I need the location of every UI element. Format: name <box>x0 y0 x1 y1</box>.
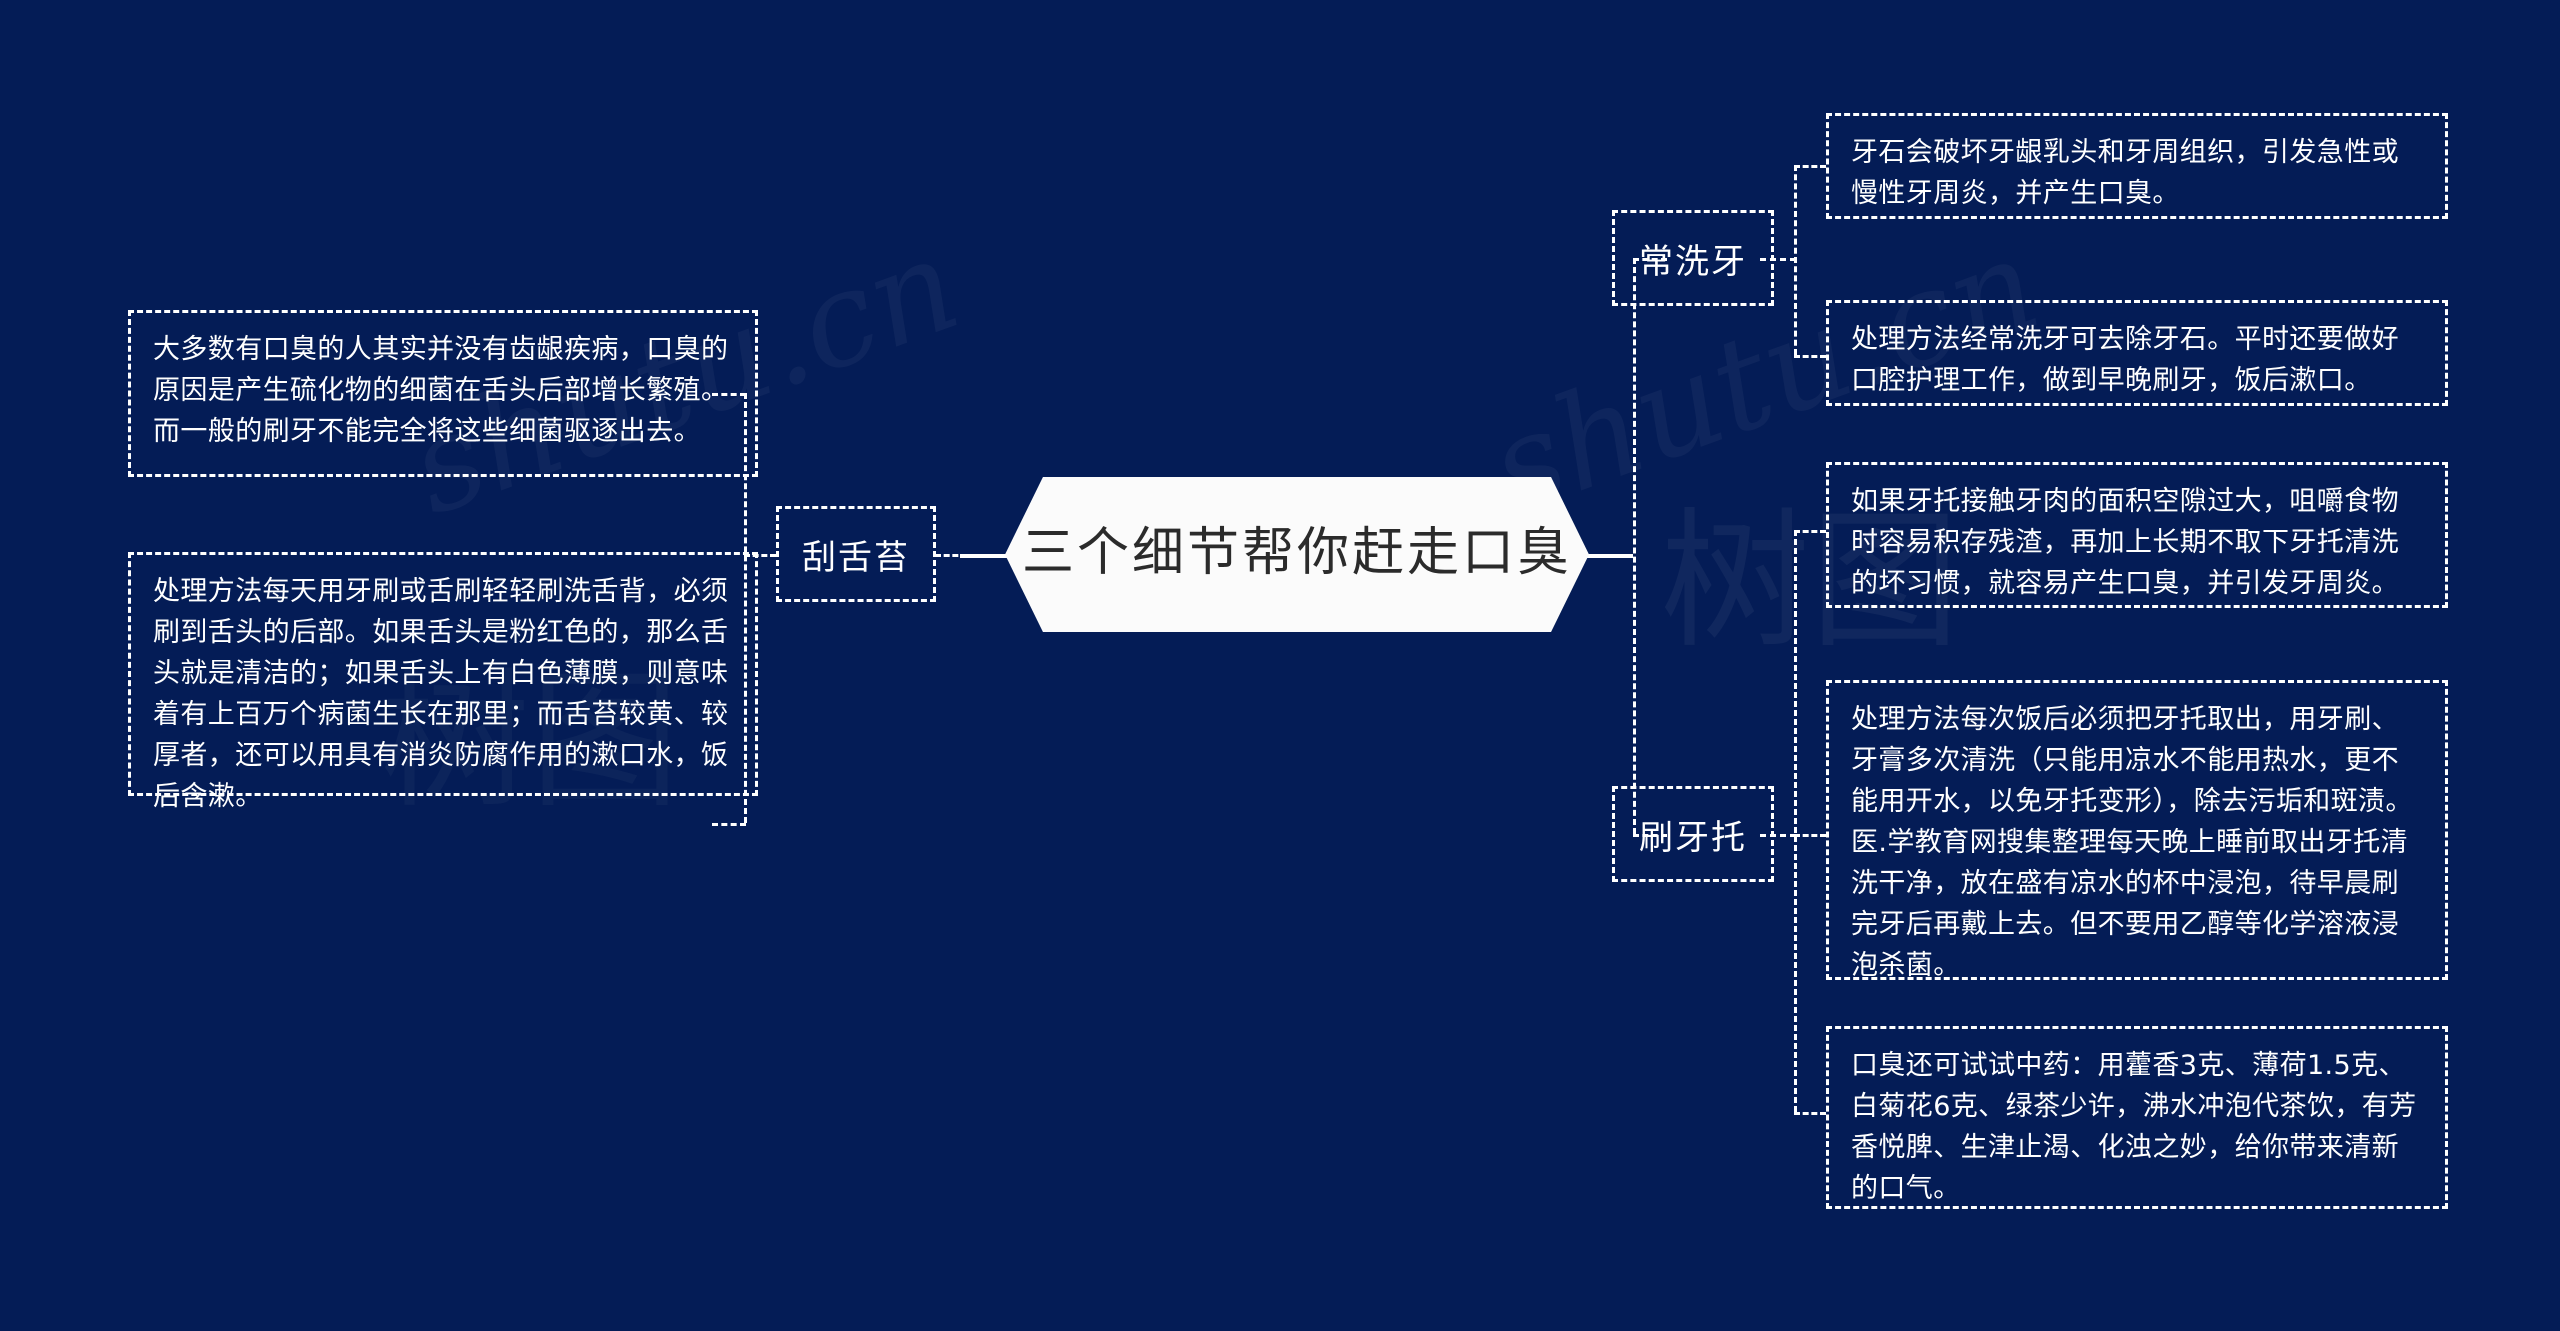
center-right-stub <box>1585 554 1633 558</box>
branch-label-shuayatuo[interactable]: 刷牙托 <box>1612 786 1774 882</box>
leaf-shuayatuo-3[interactable]: 口臭还可试试中药：用藿香3克、薄荷1.5克、白菊花6克、绿茶少许，沸水冲泡代茶饮… <box>1826 1026 2448 1209</box>
connector-shuayatuo-to-leaf-2 <box>1794 834 1826 837</box>
leaf-guashetai-2[interactable]: 处理方法每天用牙刷或舌刷轻轻刷洗舌背，必须刷到舌头的后部。如果舌头是粉红色的，那… <box>128 552 758 796</box>
connector-shuayatuo-to-leaf-3 <box>1794 1112 1826 1115</box>
leaf-guashetai-2-text: 处理方法每天用牙刷或舌刷轻轻刷洗舌背，必须刷到舌头的后部。如果舌头是粉红色的，那… <box>153 576 728 812</box>
branch-label-changxiya-text: 常洗牙 <box>1639 234 1747 283</box>
leaf-shuayatuo-3-text: 口臭还可试试中药：用藿香3克、薄荷1.5克、白菊花6克、绿茶少许，沸水冲泡代茶饮… <box>1851 1050 2417 1204</box>
center-node[interactable]: 三个细节帮你赶走口臭 <box>1005 477 1589 632</box>
branch-label-guashetai[interactable]: 刮舌苔 <box>776 506 936 602</box>
connector-changxiya-to-leaf-2 <box>1794 355 1826 358</box>
leaf-changxiya-1-text: 牙石会破坏牙龈乳头和牙周组织，引发急性或慢性牙周炎，并产生口臭。 <box>1851 137 2399 209</box>
center-left-stub <box>960 554 1008 558</box>
center-hexagon: 三个细节帮你赶走口臭 <box>1005 477 1589 632</box>
leaf-changxiya-2[interactable]: 处理方法经常洗牙可去除牙石。平时还要做好口腔护理工作，做到早晚刷牙，饭后漱口。 <box>1826 300 2448 406</box>
page-title: 三个细节帮你赶走口臭 <box>1022 527 1572 583</box>
leaf-changxiya-1[interactable]: 牙石会破坏牙龈乳头和牙周组织，引发急性或慢性牙周炎，并产生口臭。 <box>1826 113 2448 219</box>
branch-label-guashetai-text: 刮舌苔 <box>802 530 910 579</box>
connector-shuayatuo-to-leaf-1 <box>1794 530 1826 533</box>
branch-label-shuayatuo-text: 刷牙托 <box>1639 810 1747 859</box>
leaf-shuayatuo-2[interactable]: 处理方法每次饭后必须把牙托取出，用牙刷、牙膏多次清洗（只能用凉水不能用热水，更不… <box>1826 680 2448 980</box>
connector-changxiya-to-leaf-1 <box>1794 165 1826 168</box>
leaf-shuayatuo-1[interactable]: 如果牙托接触牙肉的面积空隙过大，咀嚼食物时容易积存残渣，再加上长期不取下牙托清洗… <box>1826 462 2448 608</box>
connector-left-trunk-to-leaf-2 <box>712 823 746 826</box>
connector-shuayatuo-subtrunk <box>1794 530 1797 1112</box>
mindmap-canvas: shutu.cn shutu.cn 树图 树图 三个细节帮你赶走口臭 刮舌苔 <box>0 0 2560 1331</box>
connector-right-main-trunk <box>1633 258 1636 834</box>
branch-label-changxiya[interactable]: 常洗牙 <box>1612 210 1774 306</box>
leaf-changxiya-2-text: 处理方法经常洗牙可去除牙石。平时还要做好口腔护理工作，做到早晚刷牙，饭后漱口。 <box>1851 324 2399 396</box>
leaf-guashetai-1[interactable]: 大多数有口臭的人其实并没有齿龈疾病，口臭的原因是产生硫化物的细菌在舌头后部增长繁… <box>128 310 758 477</box>
leaf-shuayatuo-2-text: 处理方法每次饭后必须把牙托取出，用牙刷、牙膏多次清洗（只能用凉水不能用热水，更不… <box>1851 704 2413 981</box>
leaf-shuayatuo-1-text: 如果牙托接触牙肉的面积空隙过大，咀嚼食物时容易积存残渣，再加上长期不取下牙托清洗… <box>1851 486 2399 599</box>
leaf-guashetai-1-text: 大多数有口臭的人其实并没有齿龈疾病，口臭的原因是产生硫化物的细菌在舌头后部增长繁… <box>153 334 728 447</box>
connector-changxiya-subtrunk <box>1794 165 1797 355</box>
